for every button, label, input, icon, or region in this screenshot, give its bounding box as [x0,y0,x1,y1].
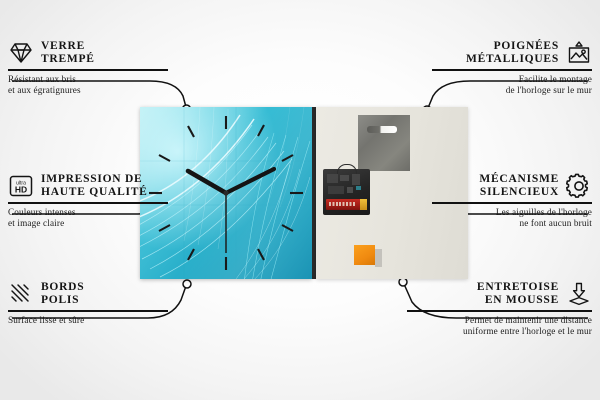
feature-subtitle-line1: Couleurs intenses [8,207,213,218]
battery-label [329,202,355,206]
feature-title: ENTRETOISE EN MOUSSE [477,281,559,306]
battery-terminal [360,199,367,210]
divider [8,69,168,71]
divider [432,69,592,71]
foam-spacer [354,245,375,265]
foam-spacer-shadow [375,249,382,267]
feature-poignees-metalliques: POIGNÉES MÉTALLIQUES Facilite le montage… [387,40,592,96]
divider [407,310,592,312]
feature-title: MÉCANISME SILENCIEUX [479,173,559,198]
diamond-icon [8,40,34,66]
divider [432,202,592,204]
arrow-down-onto-pad-icon [566,281,592,307]
feature-title: IMPRESSION DE HAUTE QUALITÉ [41,173,148,198]
minute-hand [226,169,274,193]
feature-subtitle-line2: et image claire [8,218,213,229]
feature-title: POIGNÉES MÉTALLIQUES [466,40,559,65]
feature-subtitle-line2: et aux égratignures [8,85,213,96]
feature-subtitle-line2: de l'horloge sur le mur [387,85,592,96]
movement-hanging-loop [337,164,357,174]
gear-icon [566,173,592,199]
feature-subtitle-line2: ne font aucun bruit [387,218,592,229]
feature-title: VERRE TREMPÉ [41,40,95,65]
feature-bords-polis: BORDS POLIS Surface lisse et sûre [8,281,213,326]
movement-detail [327,174,366,196]
divider [8,310,168,312]
feature-subtitle-line1: Résistant aux bris [8,74,213,85]
divider [8,202,168,204]
hanger-keyhole-slot [367,126,397,133]
feature-impression-haute-qualite: ultra HD IMPRESSION DE HAUTE QUALITÉ Cou… [8,173,213,229]
infographic-canvas: VERRE TREMPÉ Résistant aux bris et aux é… [0,0,600,400]
metal-hanger-plate [358,115,410,171]
feature-header: ENTRETOISE EN MOUSSE [362,281,592,307]
hanging-picture-frame-icon [566,40,592,66]
feature-mecanisme-silencieux: MÉCANISME SILENCIEUX Les aiguilles de l'… [387,173,592,229]
svg-text:HD: HD [15,185,27,195]
feature-header: BORDS POLIS [8,281,213,307]
feature-subtitle-line1: Les aiguilles de l'horloge [387,207,592,218]
aa-battery [326,199,367,210]
ultra-hd-badge-icon: ultra HD [8,173,34,199]
feature-header: POIGNÉES MÉTALLIQUES [387,40,592,66]
quartz-movement [323,169,370,215]
feature-subtitle-line1: Surface lisse et sûre [8,315,213,326]
feature-subtitle-line1: Facilite le montage [387,74,592,85]
feature-verre-trempe: VERRE TREMPÉ Résistant aux bris et aux é… [8,40,213,96]
feature-entretoise-en-mousse: ENTRETOISE EN MOUSSE Permet de maintenir… [362,281,592,337]
polished-edge-lines-icon [8,281,34,307]
clock-center-cap [223,190,228,195]
feature-subtitle-line2: uniforme entre l'horloge et le mur [362,326,592,337]
feature-subtitle-line1: Permet de maintenir une distance [362,315,592,326]
feature-title: BORDS POLIS [41,281,84,306]
feature-header: VERRE TREMPÉ [8,40,213,66]
feature-header: MÉCANISME SILENCIEUX [387,173,592,199]
feature-header: ultra HD IMPRESSION DE HAUTE QUALITÉ [8,173,213,199]
